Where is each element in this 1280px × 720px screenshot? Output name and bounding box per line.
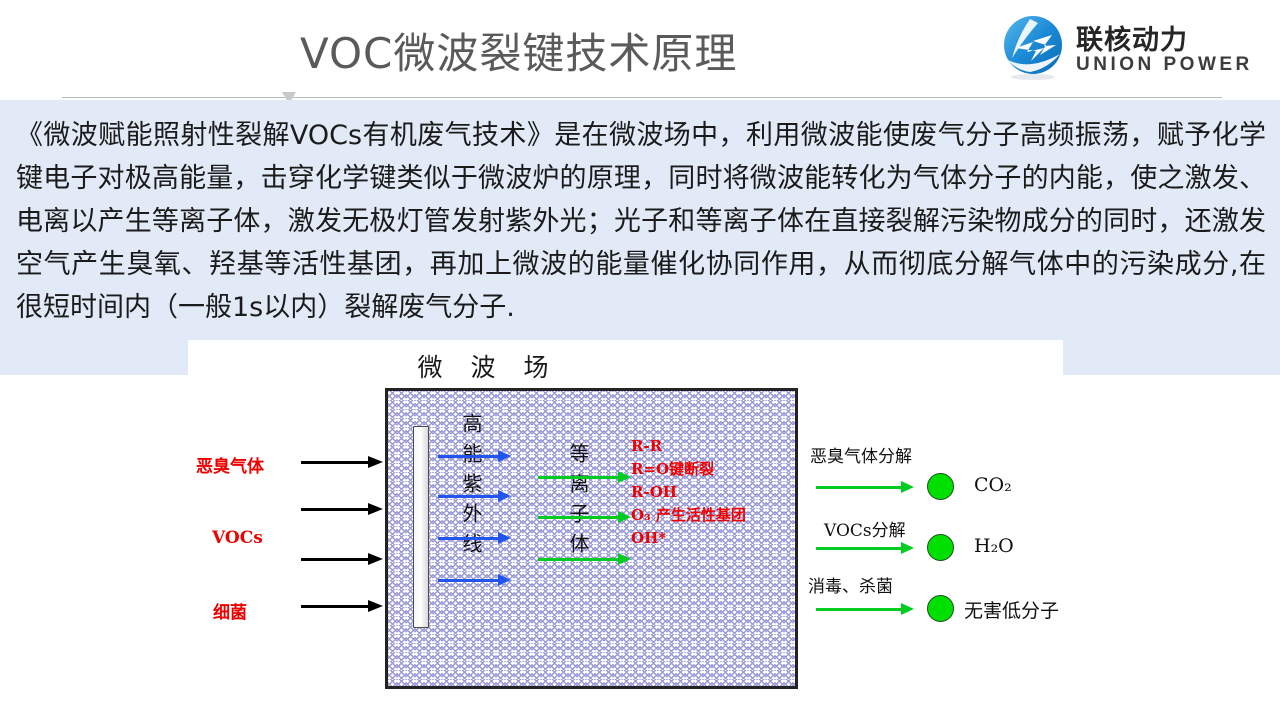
logo-english-name: UNION POWER bbox=[1076, 54, 1253, 76]
inlet-label-bacteria: 细菌 bbox=[213, 598, 247, 623]
product-dot-2 bbox=[927, 534, 954, 561]
uv-vertical-label: 高能紫外线 bbox=[461, 413, 481, 563]
page-title: VOC微波裂键技术原理 bbox=[300, 26, 840, 82]
output-label-sterilize: 消毒、杀菌 bbox=[808, 572, 893, 597]
output-product-harmless: 无害低分子 bbox=[964, 596, 1059, 623]
reaction-item-4: O₃ 产生活性基团 bbox=[631, 504, 791, 527]
output-product-co2: CO₂ bbox=[974, 474, 1012, 496]
output-label-vocs: VOCs分解 bbox=[824, 516, 906, 541]
inlet-label-odor: 恶臭气体 bbox=[196, 452, 264, 477]
uv-lamp-tube-icon bbox=[413, 426, 429, 628]
microwave-chamber: 高能紫外线 等离子体 R-R R=O键断裂 R-OH O₃ bbox=[385, 388, 798, 689]
reaction-item-2: R=O键断裂 bbox=[631, 458, 791, 481]
reaction-equation-list: R-R R=O键断裂 R-OH O₃ 产生活性基团 OH* bbox=[631, 435, 791, 550]
output-label-odor: 恶臭气体分解 bbox=[810, 442, 912, 467]
description-paragraph: 《微波赋能照射性裂解VOCs有机废气技术》是在微波场中，利用微波能使废气分子高频… bbox=[16, 114, 1266, 329]
page-header: VOC微波裂键技术原理 联核动力 UNION PO bbox=[0, 0, 1280, 100]
process-diagram: 微 波 场 恶臭气体 VOCs 细菌 高能紫外线 等离子体 bbox=[188, 340, 1063, 720]
reaction-item-1: R-R bbox=[631, 435, 791, 458]
output-product-h2o: H₂O bbox=[974, 535, 1014, 557]
microwave-field-caption: 微 波 场 bbox=[188, 348, 788, 384]
reaction-item-3: R-OH bbox=[631, 481, 791, 504]
title-divider bbox=[62, 97, 1222, 98]
inlet-label-vocs: VOCs bbox=[212, 528, 263, 548]
description-band: 《微波赋能照射性裂解VOCs有机废气技术》是在微波场中，利用微波能使废气分子高频… bbox=[0, 100, 1280, 375]
product-dot-3 bbox=[927, 595, 954, 622]
company-logo: 联核动力 UNION POWER bbox=[1000, 12, 1268, 86]
reaction-item-5: OH* bbox=[631, 527, 791, 550]
logo-chinese-name: 联核动力 bbox=[1076, 18, 1188, 57]
union-power-sphere-icon bbox=[1000, 14, 1066, 80]
product-dot-1 bbox=[927, 473, 954, 500]
plasma-vertical-label: 等离子体 bbox=[568, 443, 588, 563]
